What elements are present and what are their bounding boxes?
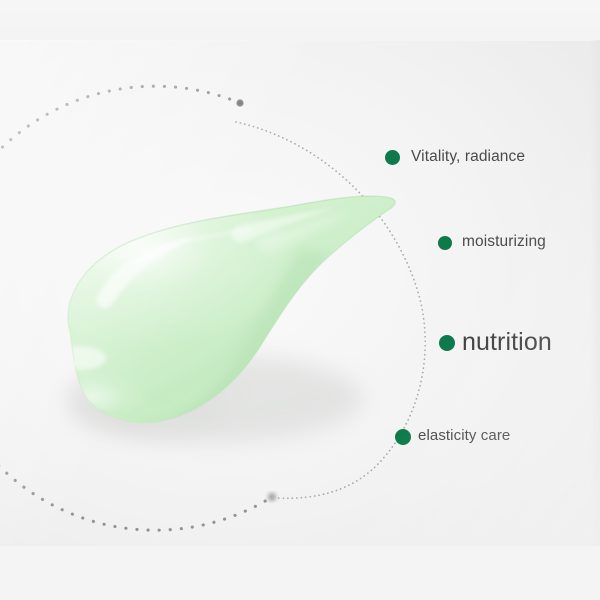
- product-infographic-canvas: Vitality, radiance moisturizing nutritio…: [0, 0, 600, 600]
- benefit-label-elasticity: elasticity care: [418, 427, 510, 444]
- benefit-dot-vitality[interactable]: [385, 150, 400, 165]
- benefit-label-moisturizing: moisturizing: [462, 233, 546, 251]
- orbit-end-marker: [268, 493, 276, 501]
- benefit-dot-nutrition[interactable]: [439, 335, 455, 351]
- orbit-start-marker: [236, 99, 243, 106]
- benefit-label-nutrition: nutrition: [462, 328, 552, 357]
- artwork-layer: [0, 0, 600, 600]
- benefit-dot-moisturizing[interactable]: [438, 236, 452, 250]
- benefit-label-vitality: Vitality, radiance: [411, 148, 525, 166]
- benefit-dot-elasticity[interactable]: [395, 429, 411, 445]
